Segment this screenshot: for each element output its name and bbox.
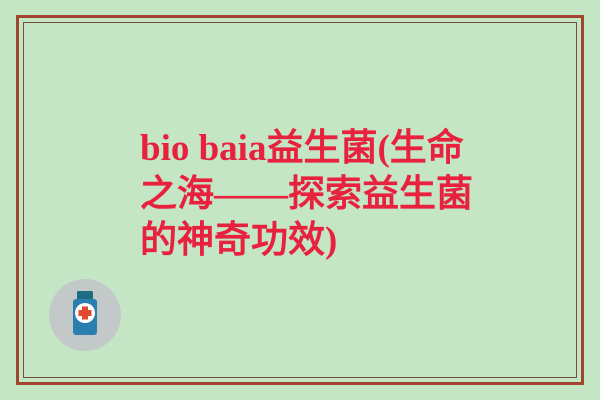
poster-canvas: bio baia益生菌(生命之海——探索益生菌的神奇功效) (0, 0, 600, 400)
cross-horizontal (79, 310, 92, 316)
bottle-cap (77, 291, 93, 300)
page-title: bio baia益生菌(生命之海——探索益生菌的神奇功效) (140, 126, 500, 264)
medicine-bottle-icon (49, 279, 121, 351)
